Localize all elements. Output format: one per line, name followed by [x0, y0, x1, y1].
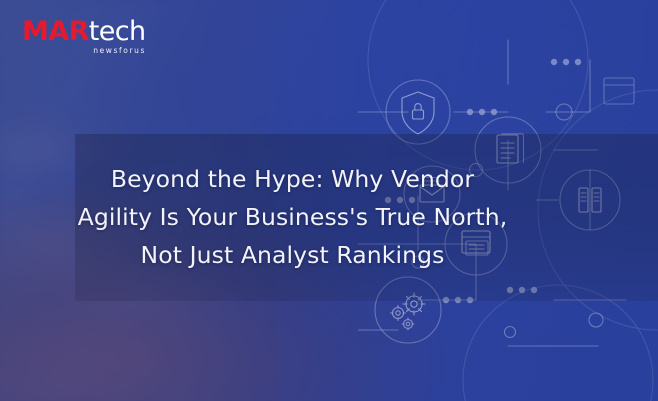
logo-tagline: newsforus — [22, 46, 146, 55]
logo-tech-text: tech — [89, 16, 146, 47]
logo-mar-text: MAR — [22, 16, 89, 47]
headline-line-3: Not Just Analyst Rankings — [75, 236, 510, 274]
hero-banner: MARtech newsforus Beyond the Hype: Why V… — [0, 0, 658, 401]
headline-line-2: Agility Is Your Business's True North, — [75, 198, 510, 236]
hero-headline: Beyond the Hype: Why Vendor Agility Is Y… — [75, 160, 510, 274]
headline-line-1: Beyond the Hype: Why Vendor — [75, 160, 510, 198]
logo-wordmark: MARtech — [22, 18, 146, 45]
site-logo[interactable]: MARtech newsforus — [22, 18, 146, 55]
